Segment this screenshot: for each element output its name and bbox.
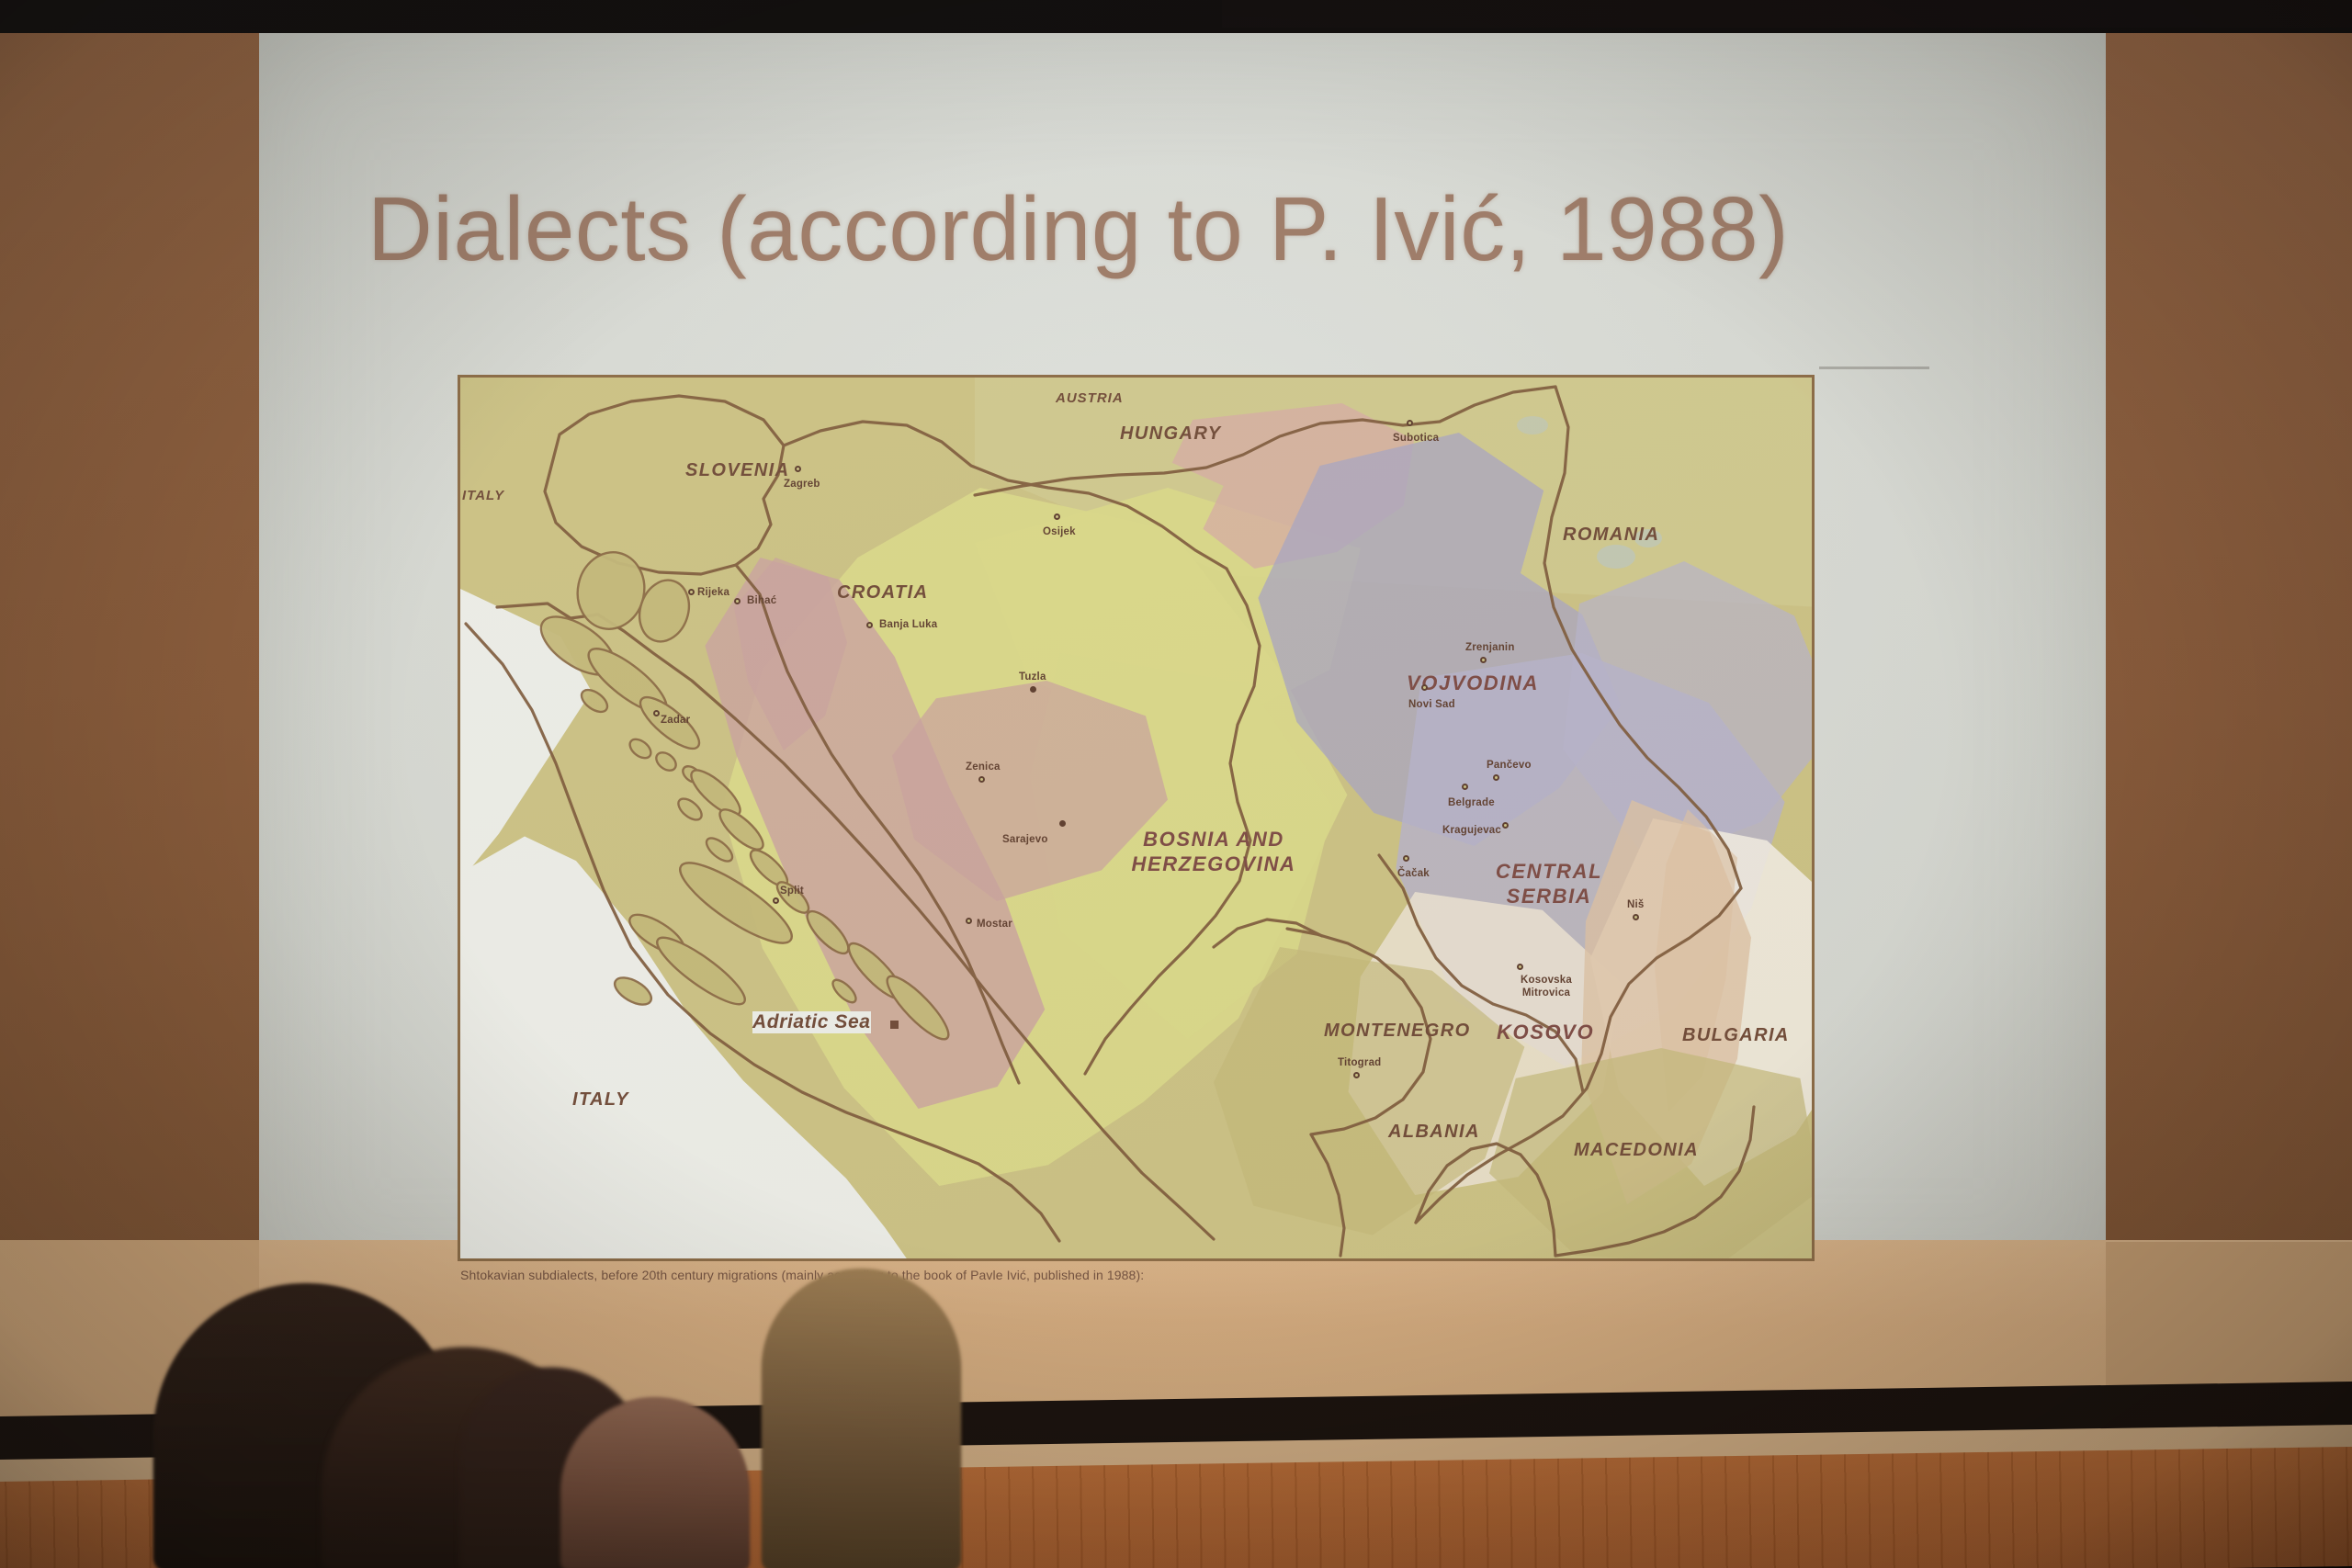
city-dot-belgrade bbox=[1462, 784, 1468, 790]
city-dot-zrenjanin bbox=[1480, 657, 1487, 663]
city-kosovska-mitrovica: Kosovska Mitrovica bbox=[1491, 975, 1601, 1000]
map-label-kosovo: KOSOVO bbox=[1497, 1021, 1594, 1044]
city-dot-kosovska-mitrovica bbox=[1517, 964, 1523, 970]
city-sarajevo: Sarajevo bbox=[1002, 834, 1048, 845]
map-label-montenegro: MONTENEGRO bbox=[1324, 1021, 1471, 1042]
city-dot-kragujevac bbox=[1502, 822, 1509, 829]
city-dot-zagreb bbox=[795, 466, 801, 472]
photo-of-lecture-hall: Dialects (according to P. Ivić, 1988) bbox=[0, 0, 2352, 1568]
city-dot-pancevo bbox=[1493, 774, 1499, 781]
map-label-bosnia-herzegovina: BOSNIA AND HERZEGOVINA bbox=[1103, 828, 1324, 877]
city-dot-zenica bbox=[978, 776, 985, 783]
city-split: Split bbox=[780, 886, 804, 897]
map-label-romania: ROMANIA bbox=[1563, 525, 1659, 546]
city-osijek: Osijek bbox=[1043, 526, 1076, 537]
map-label-croatia: CROATIA bbox=[837, 582, 928, 604]
city-nis: Niš bbox=[1627, 899, 1645, 910]
city-titograd: Titograd bbox=[1338, 1057, 1381, 1068]
city-dot-titograd bbox=[1353, 1072, 1360, 1078]
wall-left bbox=[0, 28, 259, 1240]
city-belgrade: Belgrade bbox=[1448, 797, 1495, 808]
sea-marker-dot bbox=[890, 1021, 899, 1029]
ceiling-dark-band-right bbox=[1222, 0, 2352, 28]
map-label-vojvodina: VOJVODINA bbox=[1407, 671, 1539, 695]
city-bihac: Bihać bbox=[747, 595, 776, 606]
title-underline-rule bbox=[1819, 367, 1929, 369]
city-novi-sad: Novi Sad bbox=[1408, 699, 1455, 710]
city-cacak: Čačak bbox=[1397, 868, 1430, 879]
wall-right bbox=[2106, 20, 2352, 1242]
city-mostar: Mostar bbox=[977, 919, 1012, 930]
audience-head-5-front bbox=[763, 1269, 960, 1568]
map-label-central-serbia: CENTRAL SERBIA bbox=[1462, 860, 1636, 909]
map-label-macedonia: MACEDONIA bbox=[1574, 1140, 1699, 1161]
city-dot-rijeka bbox=[688, 589, 695, 595]
map-label-italy-sw: ITALY bbox=[572, 1089, 629, 1111]
city-banja-luka: Banja Luka bbox=[879, 619, 937, 630]
city-dot-bihac bbox=[734, 598, 741, 604]
map-label-austria: AUSTRIA bbox=[1056, 390, 1124, 406]
dialect-map: AUSTRIA ITALY SLOVENIA HUNGARY CROATIA R… bbox=[458, 375, 1815, 1261]
city-dot-cacak bbox=[1403, 855, 1409, 862]
city-zrenjanin: Zrenjanin bbox=[1465, 642, 1515, 653]
slide-title: Dialects (according to P. Ivić, 1988) bbox=[367, 182, 1789, 276]
city-dot-sarajevo bbox=[1059, 820, 1066, 827]
city-dot-tuzla bbox=[1030, 686, 1036, 693]
city-dot-nis bbox=[1633, 914, 1639, 920]
map-label-hungary: HUNGARY bbox=[1120, 423, 1222, 445]
map-label-slovenia: SLOVENIA bbox=[685, 460, 789, 481]
city-dot-mostar bbox=[966, 918, 972, 924]
city-subotica: Subotica bbox=[1393, 433, 1439, 444]
map-caption: Shtokavian subdialects, before 20th cent… bbox=[460, 1268, 1802, 1282]
map-label-albania: ALBANIA bbox=[1388, 1122, 1480, 1143]
city-zenica: Zenica bbox=[966, 761, 1001, 773]
map-canvas: AUSTRIA ITALY SLOVENIA HUNGARY CROATIA R… bbox=[458, 375, 1815, 1261]
map-label-italy-nw: ITALY bbox=[462, 488, 504, 503]
city-zagreb: Zagreb bbox=[784, 479, 820, 490]
city-dot-zadar bbox=[653, 710, 660, 716]
city-tuzla: Tuzla bbox=[1019, 671, 1046, 682]
map-border-lines bbox=[460, 378, 1812, 1258]
map-label-adriatic-sea: Adriatic Sea bbox=[752, 1011, 871, 1033]
map-label-bulgaria: BULGARIA bbox=[1682, 1025, 1790, 1046]
city-dot-osijek bbox=[1054, 513, 1060, 520]
city-dot-split bbox=[773, 897, 779, 904]
city-dot-novi-sad bbox=[1421, 684, 1428, 691]
city-zadar: Zadar bbox=[661, 715, 690, 726]
city-pancevo: Pančevo bbox=[1487, 760, 1532, 771]
city-kragujevac: Kragujevac bbox=[1442, 825, 1501, 836]
city-rijeka: Rijeka bbox=[697, 587, 729, 598]
city-dot-subotica bbox=[1407, 420, 1413, 426]
city-dot-banja-luka bbox=[866, 622, 873, 628]
